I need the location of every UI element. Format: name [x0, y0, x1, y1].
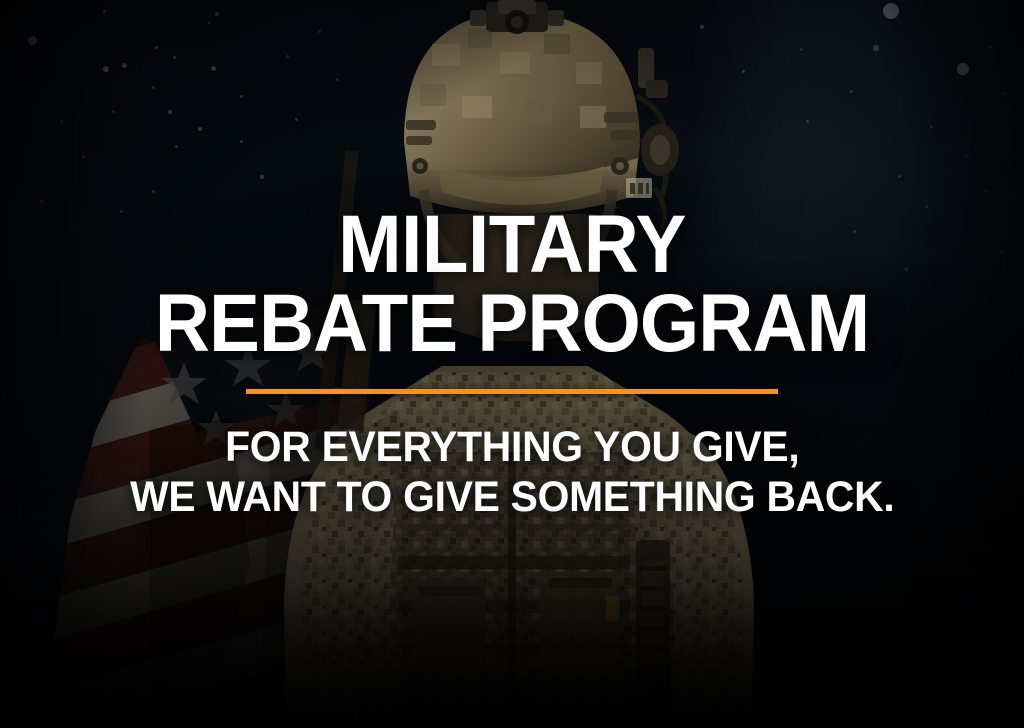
subheadline: FOR EVERYTHING YOU GIVE, WE WANT TO GIVE…	[130, 423, 894, 523]
subheadline-line-2: WE WANT TO GIVE SOMETHING BACK.	[130, 473, 894, 523]
headline-line-1: MILITARY	[155, 205, 869, 284]
headline-line-2: REBATE PROGRAM	[155, 284, 869, 363]
military-rebate-program-hero-banner: MILITARY REBATE PROGRAM FOR EVERYTHING Y…	[0, 0, 1024, 728]
orange-divider	[246, 389, 778, 394]
page-title: MILITARY REBATE PROGRAM	[146, 205, 879, 363]
subheadline-line-1: FOR EVERYTHING YOU GIVE,	[130, 423, 894, 473]
banner-content: MILITARY REBATE PROGRAM FOR EVERYTHING Y…	[0, 0, 1024, 728]
